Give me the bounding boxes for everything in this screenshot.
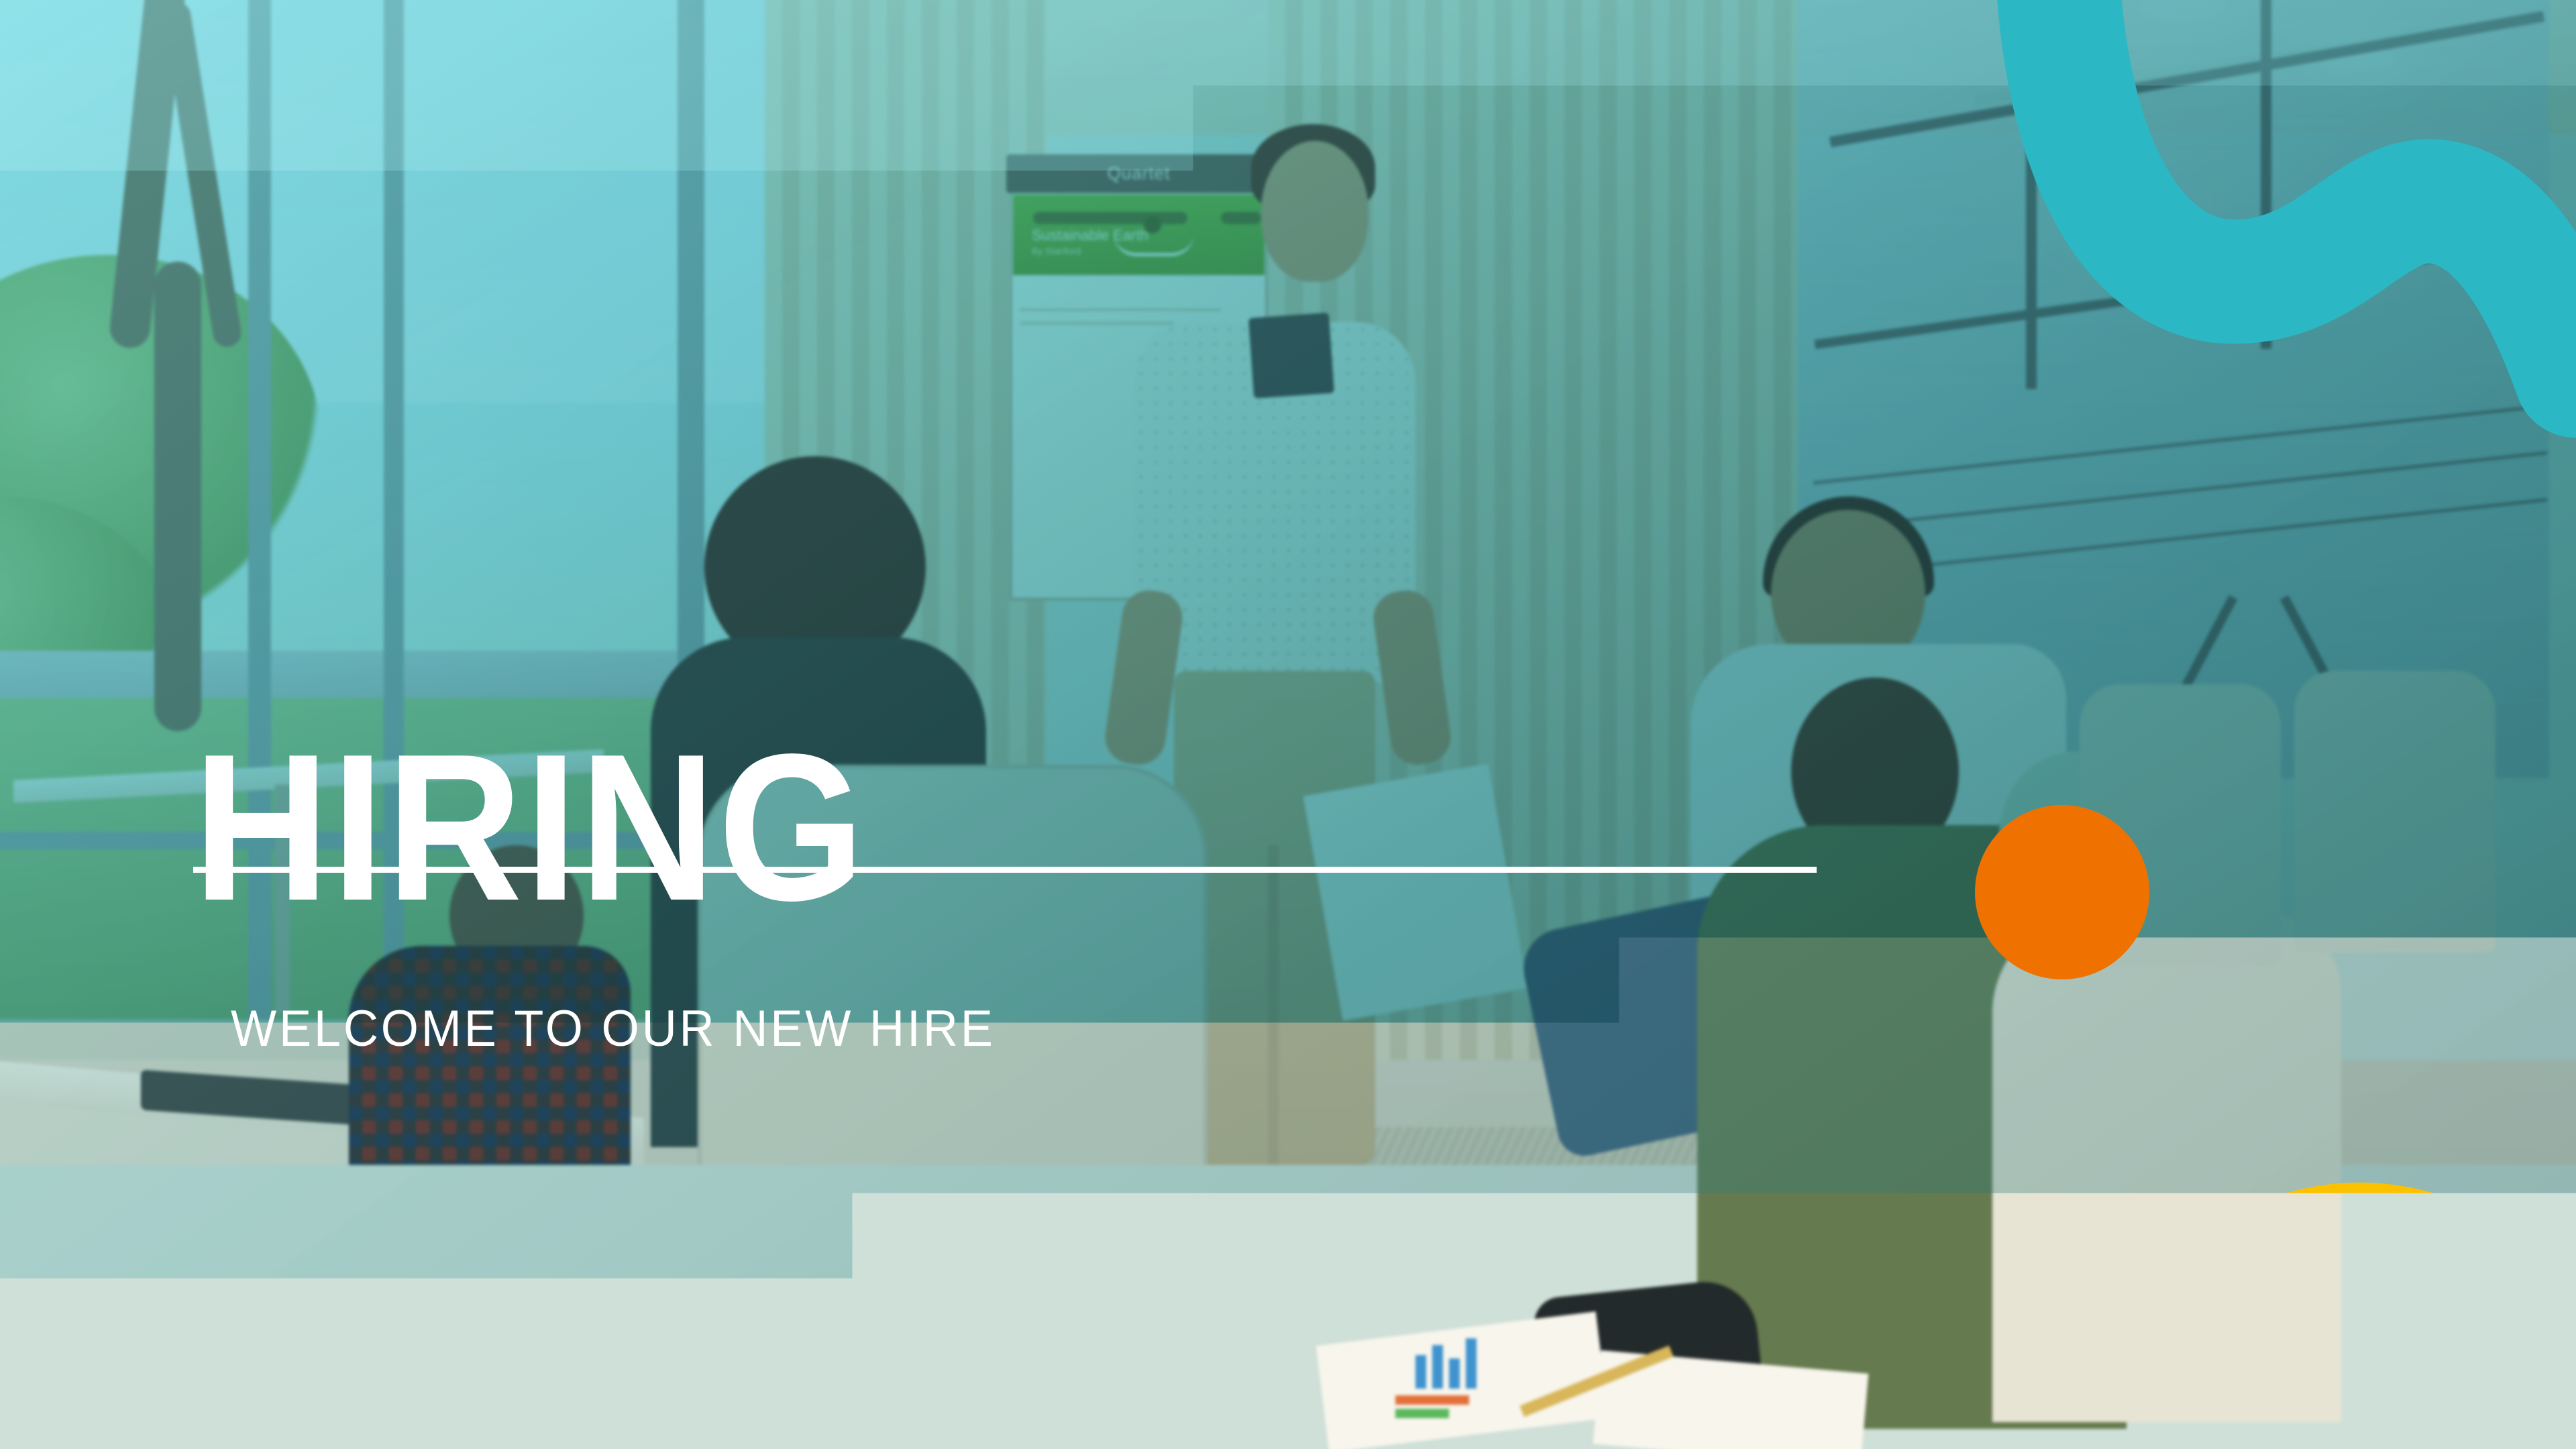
headline-line-1: HIRING <box>193 726 1634 931</box>
headline-line-2: GREAT TALENT <box>193 1341 1634 1449</box>
hiring-poster: Quartet Sustainable Earth By Stanford <box>0 0 2576 1449</box>
divider-rule <box>193 867 1817 873</box>
page-title: HIRING GREAT TALENT <box>193 315 1634 1449</box>
subtitle: WELCOME TO OUR NEW HIRE <box>231 1000 996 1058</box>
